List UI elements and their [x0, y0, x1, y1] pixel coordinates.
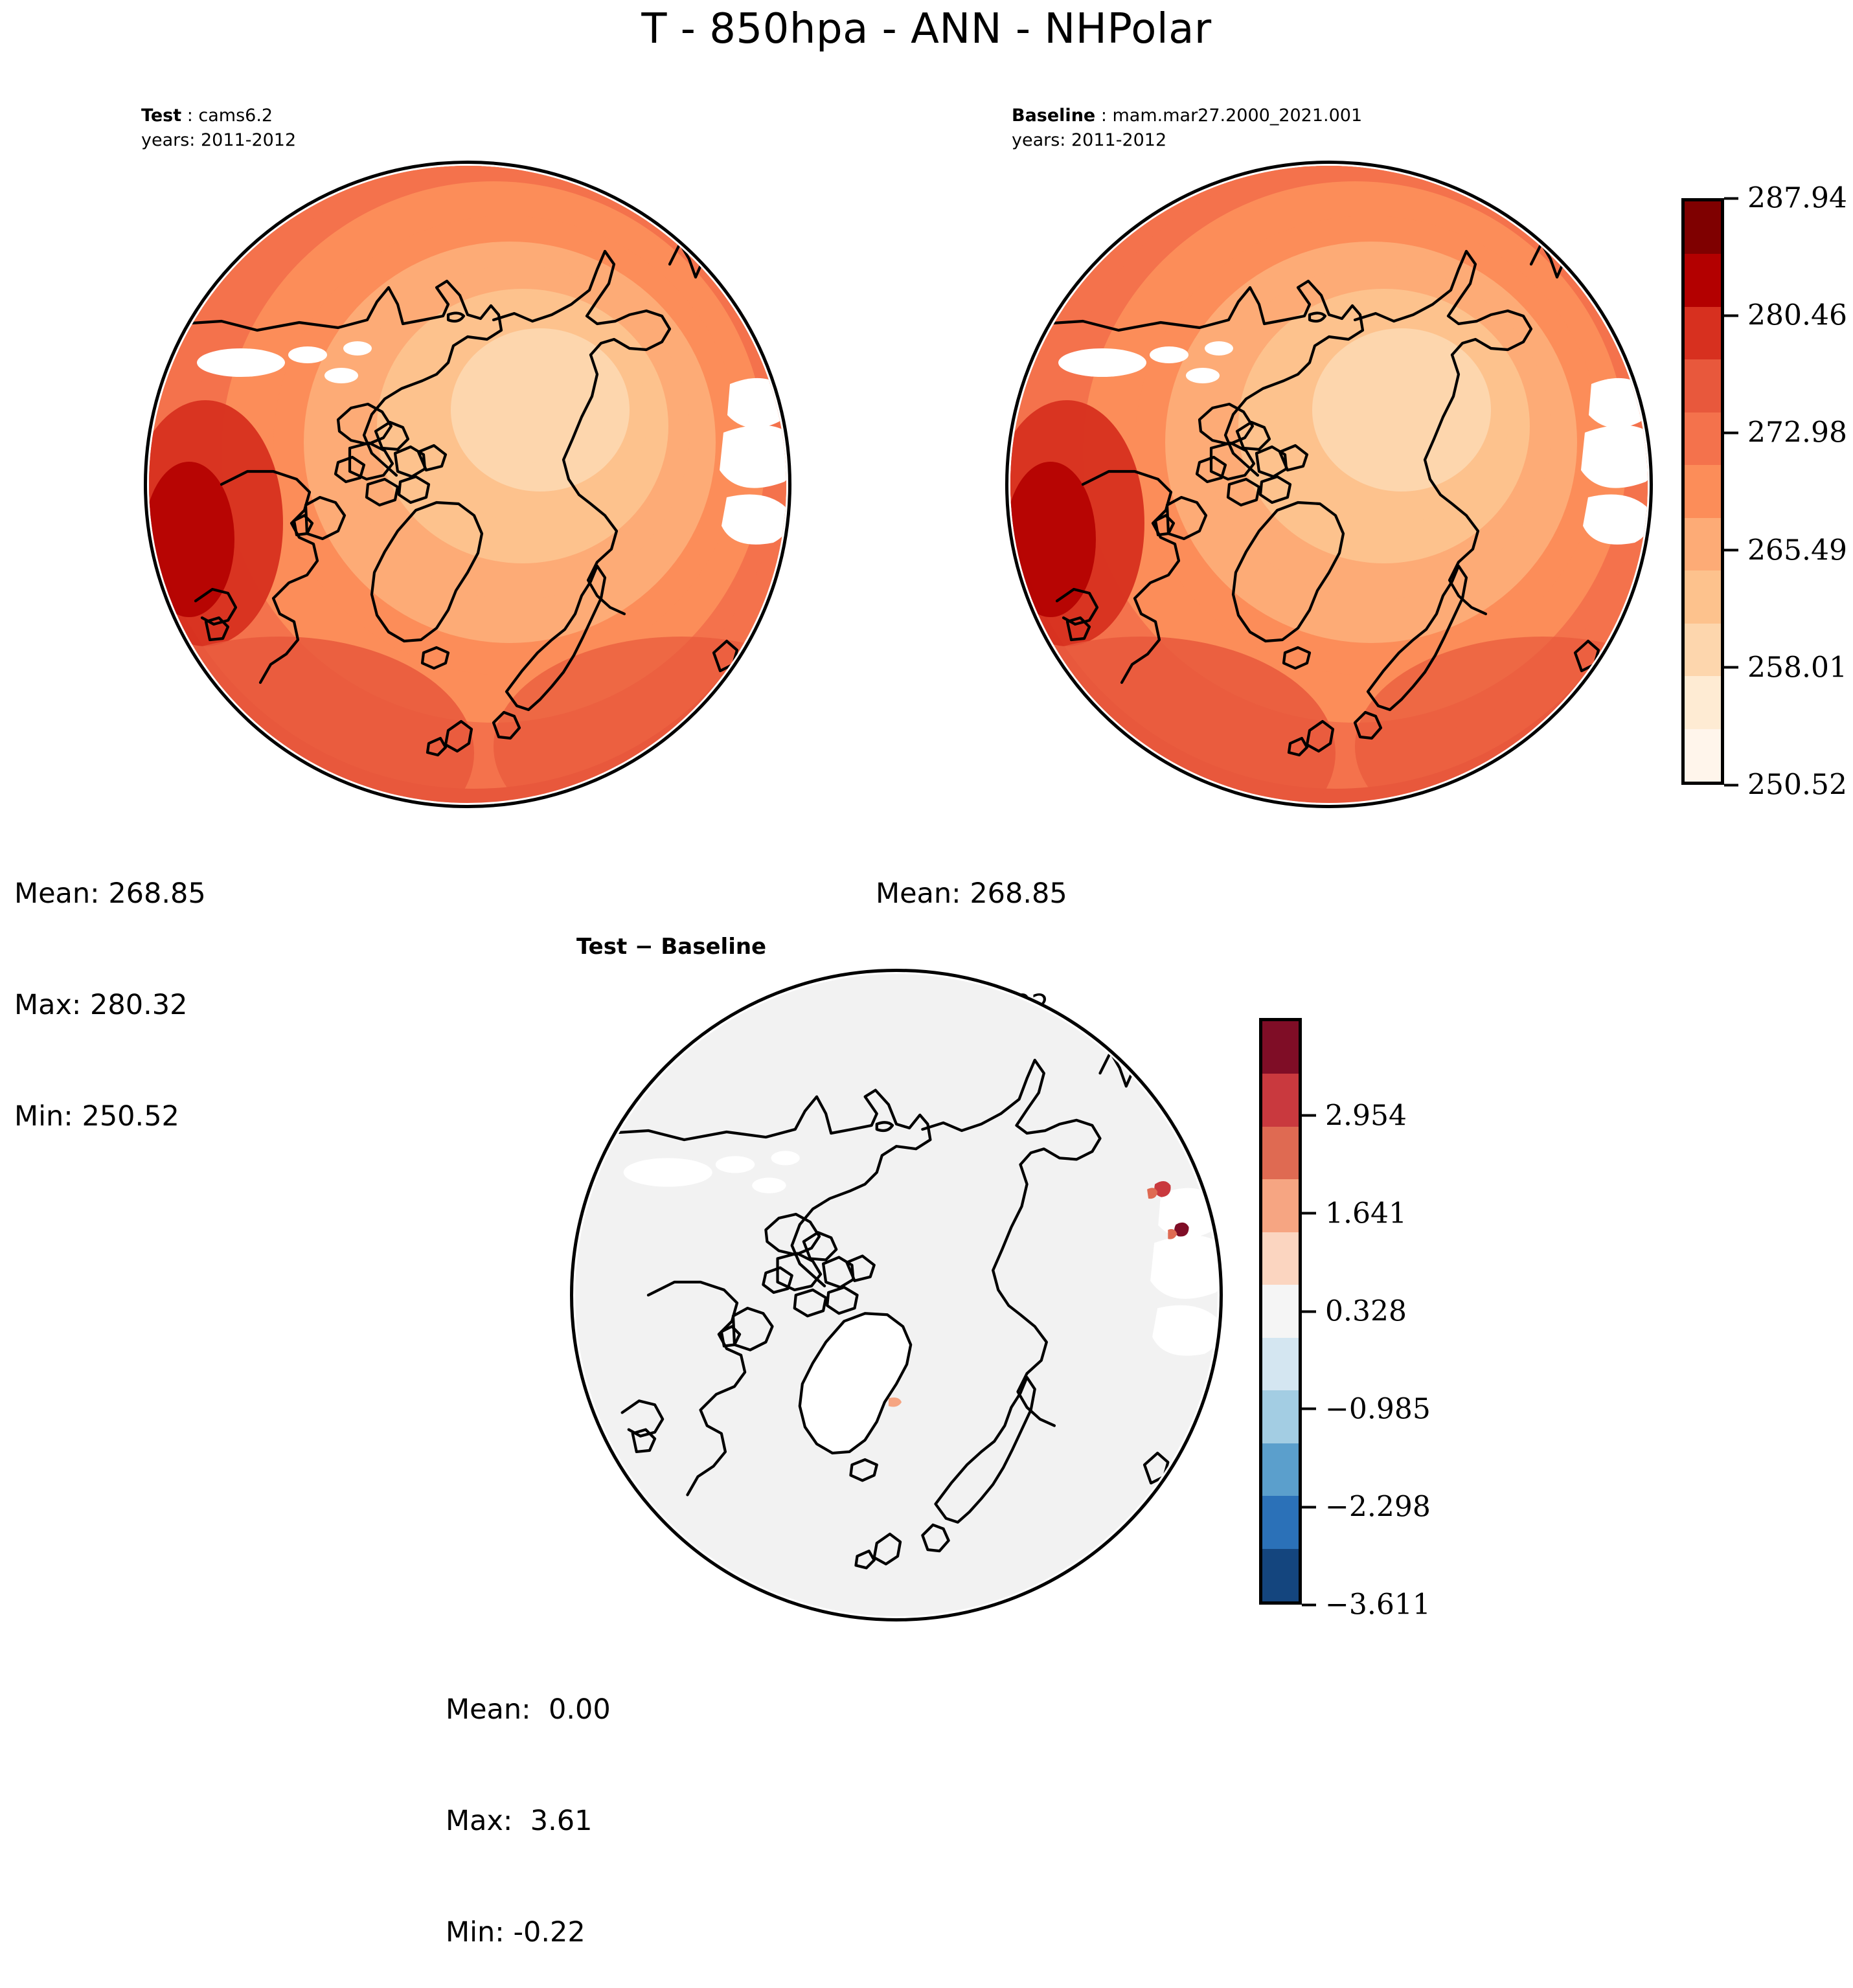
difference-colorbar-ticks: 2.9541.6410.328−0.985−2.298−3.611: [1302, 1018, 1453, 1605]
main-colorbar-tick-4: 258.01: [1724, 651, 1847, 684]
baseline-years: years: 2011-2012: [1012, 128, 1362, 153]
main-colorbar-bands: [1681, 198, 1724, 785]
main-colorbar-tick-0: 287.94: [1724, 182, 1847, 215]
difference-colorbar[interactable]: 2.9541.6410.328−0.985−2.298−3.611: [1259, 1018, 1453, 1605]
difference-stat-mean: Mean: 0.00: [446, 1691, 611, 1728]
difference-colorbar-ticklabel-1: 1.641: [1325, 1197, 1407, 1230]
test-label-key: Test: [141, 106, 181, 126]
main-colorbar-tickmark-2: [1724, 431, 1738, 434]
difference-colorbar-tick-3: −0.985: [1302, 1392, 1431, 1425]
difference-colorbar-tick-2: 0.328: [1302, 1295, 1407, 1328]
baseline-map-disc: [1005, 161, 1653, 808]
difference-colorbar-band-8: [1262, 1443, 1299, 1496]
test-panel-label: Test : cams6.2 years: 2011-2012: [141, 104, 296, 153]
main-colorbar-tickmark-1: [1724, 314, 1738, 317]
test-map-disc: [144, 161, 791, 808]
difference-colorbar-band-5: [1262, 1285, 1299, 1337]
test-label-value: cams6.2: [198, 106, 273, 126]
baseline-label-sep: :: [1095, 106, 1112, 126]
difference-colorbar-band-7: [1262, 1390, 1299, 1443]
main-colorbar-ticklabel-5: 250.52: [1747, 769, 1847, 802]
main-colorbar-tickmark-0: [1724, 197, 1738, 199]
baseline-label-key: Baseline: [1012, 106, 1095, 126]
baseline-map[interactable]: [1005, 161, 1653, 808]
main-colorbar-tickmark-5: [1724, 784, 1738, 786]
difference-colorbar-band-2: [1262, 1127, 1299, 1179]
difference-colorbar-tickmark-5: [1302, 1603, 1316, 1606]
difference-colorbar-band-6: [1262, 1338, 1299, 1390]
figure-title: T - 850hpa - ANN - NHPolar: [0, 5, 1853, 53]
difference-colorbar-band-1: [1262, 1074, 1299, 1126]
main-colorbar-band-10: [1685, 729, 1721, 782]
main-colorbar-band-3: [1685, 359, 1721, 412]
difference-stat-min: Min: -0.22: [446, 1914, 611, 1951]
main-colorbar-tick-2: 272.98: [1724, 416, 1847, 449]
difference-colorbar-tickmark-2: [1302, 1310, 1316, 1313]
main-colorbar-ticklabel-4: 258.01: [1747, 651, 1847, 684]
difference-colorbar-band-9: [1262, 1496, 1299, 1548]
baseline-stat-mean: Mean: 268.85: [876, 875, 1067, 912]
test-stat-mean: Mean: 268.85: [14, 875, 206, 912]
difference-colorbar-ticklabel-0: 2.954: [1325, 1099, 1407, 1132]
main-colorbar-tick-1: 280.46: [1724, 299, 1847, 332]
main-colorbar-band-6: [1685, 518, 1721, 570]
test-label-sep: :: [181, 106, 198, 126]
main-colorbar-band-1: [1685, 254, 1721, 306]
difference-colorbar-bands: [1259, 1018, 1302, 1605]
test-stat-max: Max: 280.32: [14, 987, 206, 1024]
test-map[interactable]: [144, 161, 791, 808]
difference-colorbar-band-4: [1262, 1232, 1299, 1285]
difference-colorbar-tickmark-1: [1302, 1212, 1316, 1215]
main-colorbar-ticklabel-3: 265.49: [1747, 534, 1847, 567]
difference-colorbar-ticklabel-2: 0.328: [1325, 1295, 1407, 1328]
main-colorbar-band-9: [1685, 676, 1721, 729]
difference-colorbar-tickmark-0: [1302, 1114, 1316, 1117]
baseline-panel-label: Baseline : mam.mar27.2000_2021.001 years…: [1012, 104, 1362, 153]
difference-colorbar-band-10: [1262, 1549, 1299, 1601]
difference-colorbar-tick-4: −2.298: [1302, 1491, 1431, 1524]
difference-stats: Mean: 0.00 Max: 3.61 Min: -0.22: [446, 1618, 611, 1988]
difference-colorbar-band-0: [1262, 1021, 1299, 1074]
difference-colorbar-tickmark-4: [1302, 1506, 1316, 1508]
test-years: years: 2011-2012: [141, 128, 296, 153]
main-colorbar-band-2: [1685, 307, 1721, 359]
difference-colorbar-ticklabel-4: −2.298: [1325, 1491, 1431, 1524]
difference-panel-title: Test − Baseline: [576, 934, 766, 960]
main-colorbar-ticklabel-2: 272.98: [1747, 416, 1847, 449]
main-colorbar-tickmark-3: [1724, 549, 1738, 552]
main-colorbar[interactable]: 287.94280.46272.98265.49258.01250.52: [1681, 198, 1850, 785]
difference-map-disc: [570, 969, 1223, 1621]
test-stat-min: Min: 250.52: [14, 1098, 206, 1135]
main-colorbar-ticks: 287.94280.46272.98265.49258.01250.52: [1724, 198, 1850, 785]
main-colorbar-ticklabel-1: 280.46: [1747, 299, 1847, 332]
main-colorbar-ticklabel-0: 287.94: [1747, 182, 1847, 215]
main-colorbar-band-7: [1685, 570, 1721, 623]
difference-stat-max: Max: 3.61: [446, 1803, 611, 1840]
main-colorbar-tick-5: 250.52: [1724, 769, 1847, 802]
baseline-map-contours: [1005, 161, 1653, 808]
difference-colorbar-ticklabel-5: −3.611: [1325, 1588, 1431, 1621]
main-colorbar-tick-3: 265.49: [1724, 534, 1847, 567]
difference-map[interactable]: [570, 969, 1223, 1621]
test-stats: Mean: 268.85 Max: 280.32 Min: 250.52: [14, 802, 206, 1172]
difference-colorbar-tick-5: −3.611: [1302, 1588, 1431, 1621]
main-colorbar-band-5: [1685, 465, 1721, 517]
difference-map-contours: [570, 969, 1223, 1621]
difference-colorbar-tick-1: 1.641: [1302, 1197, 1407, 1230]
test-map-contours: [144, 161, 791, 808]
main-colorbar-band-0: [1685, 201, 1721, 254]
main-colorbar-band-4: [1685, 412, 1721, 465]
difference-colorbar-ticklabel-3: −0.985: [1325, 1392, 1431, 1425]
baseline-label-value: mam.mar27.2000_2021.001: [1113, 106, 1363, 126]
difference-colorbar-tickmark-3: [1302, 1408, 1316, 1410]
main-colorbar-tickmark-4: [1724, 666, 1738, 669]
difference-colorbar-tick-0: 2.954: [1302, 1099, 1407, 1132]
difference-colorbar-band-3: [1262, 1179, 1299, 1232]
main-colorbar-band-8: [1685, 624, 1721, 676]
